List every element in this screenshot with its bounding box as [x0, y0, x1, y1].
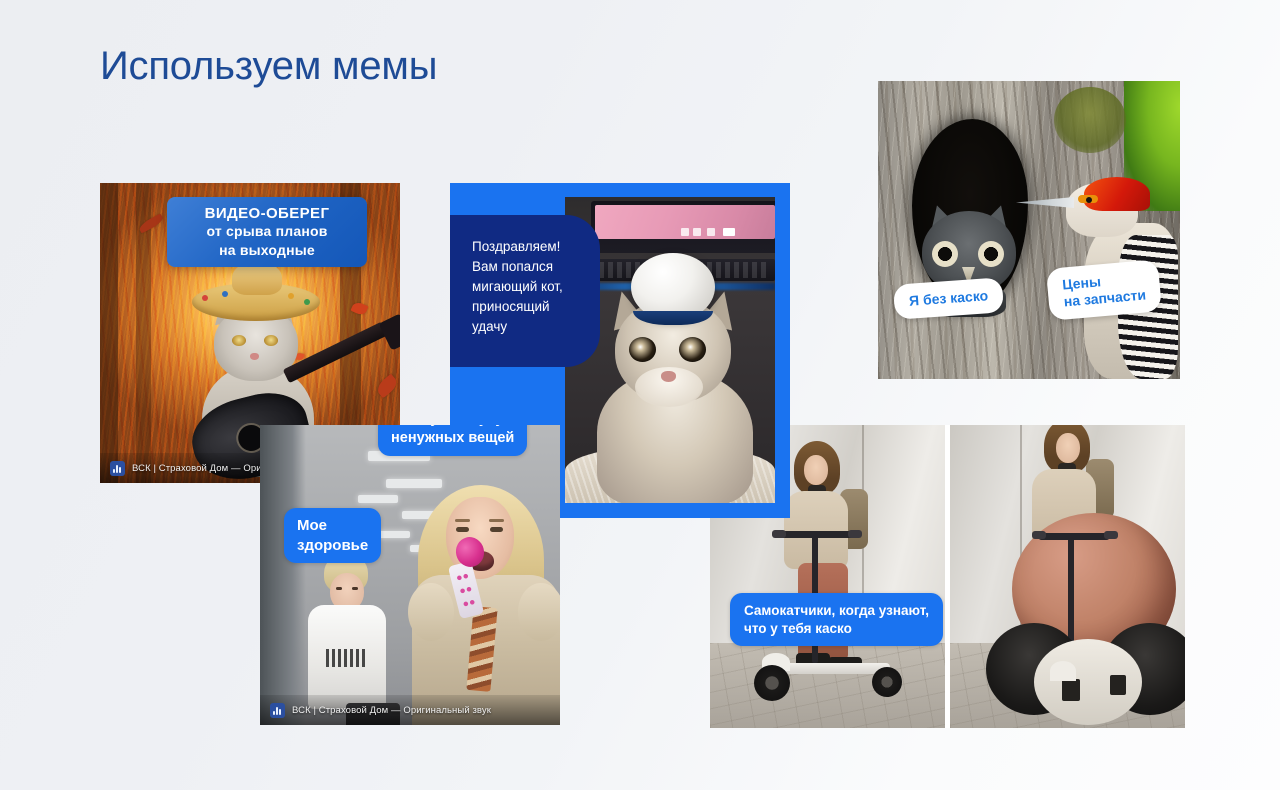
eyebrow-right: [489, 519, 504, 522]
handlebar: [1038, 533, 1110, 540]
meme-card-birds[interactable]: Я без каско Цены на запчасти: [878, 81, 1180, 379]
shirt-print: [326, 649, 366, 667]
slide-root: Используем мемы: [0, 0, 1280, 790]
pill-spare-part-prices: Цены на запчасти: [1046, 259, 1162, 321]
owl-eye-right: [978, 241, 1004, 267]
cat-figure: [583, 275, 763, 503]
hub-marking: [1062, 679, 1080, 701]
sound-wave-icon: [110, 461, 125, 476]
headline-plate: ВИДЕО-ОБЕРЕГ от срыва планов на выходные: [167, 197, 367, 267]
eyebrow-left: [455, 519, 470, 522]
puff-sleeve-right: [518, 583, 560, 641]
sound-wave-icon: [270, 703, 285, 718]
attribution-text: ВСК | Страховой Дом — Оригинальный звук: [292, 705, 491, 716]
rear-wheel: [872, 667, 902, 697]
eye-right: [352, 587, 358, 590]
headline-sub-line1: от срыва планов: [206, 223, 327, 241]
front-wheel: [754, 665, 790, 701]
hat-bead: [304, 299, 310, 305]
taskbar-icon: [723, 228, 735, 236]
puff-sleeve-left: [408, 583, 454, 641]
hat-bead: [288, 293, 294, 299]
hat-bead: [222, 291, 228, 297]
grip-right: [1104, 531, 1118, 539]
taskbar-icon: [681, 228, 689, 236]
eye-left: [456, 527, 469, 532]
grip-left: [772, 530, 786, 538]
cat-nose: [250, 353, 259, 360]
cat-eye-left: [232, 335, 246, 346]
cat-eye-right: [264, 335, 278, 346]
headline-sub-line2: на выходные: [219, 242, 315, 260]
moss-patch: [1054, 87, 1126, 153]
label-scooter-riders: Самокатчики, когда узнают, что у тебя ка…: [730, 593, 943, 646]
ceiling-light: [358, 495, 398, 503]
woodpecker-eye: [1086, 197, 1092, 203]
face: [804, 455, 828, 485]
grip-left: [1032, 531, 1046, 539]
woodpecker-red-crown: [1084, 177, 1150, 211]
headline-main: ВИДЕО-ОБЕРЕГ: [205, 205, 330, 222]
scooter-pane-armored: [950, 425, 1185, 728]
front-fender: [1050, 661, 1076, 681]
cat-nose: [661, 371, 676, 382]
attribution-bar: ВСК | Страховой Дом — Оригинальный звук: [260, 695, 560, 725]
taskbar-icon: [693, 228, 701, 236]
cat-eye-right: [679, 337, 706, 362]
sombrero-hat: [192, 283, 320, 321]
cat-eye-left: [629, 337, 656, 362]
label-my-health: Мое здоровье: [284, 508, 381, 563]
eye-right: [490, 527, 503, 532]
rider-figure: [776, 441, 896, 691]
hub-marking: [1110, 675, 1126, 695]
label-buying-things: Я покупаю кучу ненужных вещей: [378, 425, 527, 456]
grip-right: [848, 530, 862, 538]
owl-eye-left: [932, 241, 958, 267]
meme-card-karaoke[interactable]: Я покупаю кучу ненужных вещей Мое здоров…: [260, 425, 560, 725]
hat-bead: [202, 295, 208, 301]
singing-woman-figure: [412, 479, 560, 725]
page-title: Используем мемы: [100, 44, 437, 89]
taskbar-icon: [707, 228, 715, 236]
computer-monitor: [591, 201, 775, 253]
congrats-panel: Поздравляем! Вам попался мигающий кот, п…: [450, 215, 600, 367]
monitor-screen: [595, 205, 775, 239]
congrats-text: Поздравляем! Вам попался мигающий кот, п…: [472, 237, 584, 337]
face: [1056, 433, 1080, 463]
eye-left: [336, 587, 342, 590]
